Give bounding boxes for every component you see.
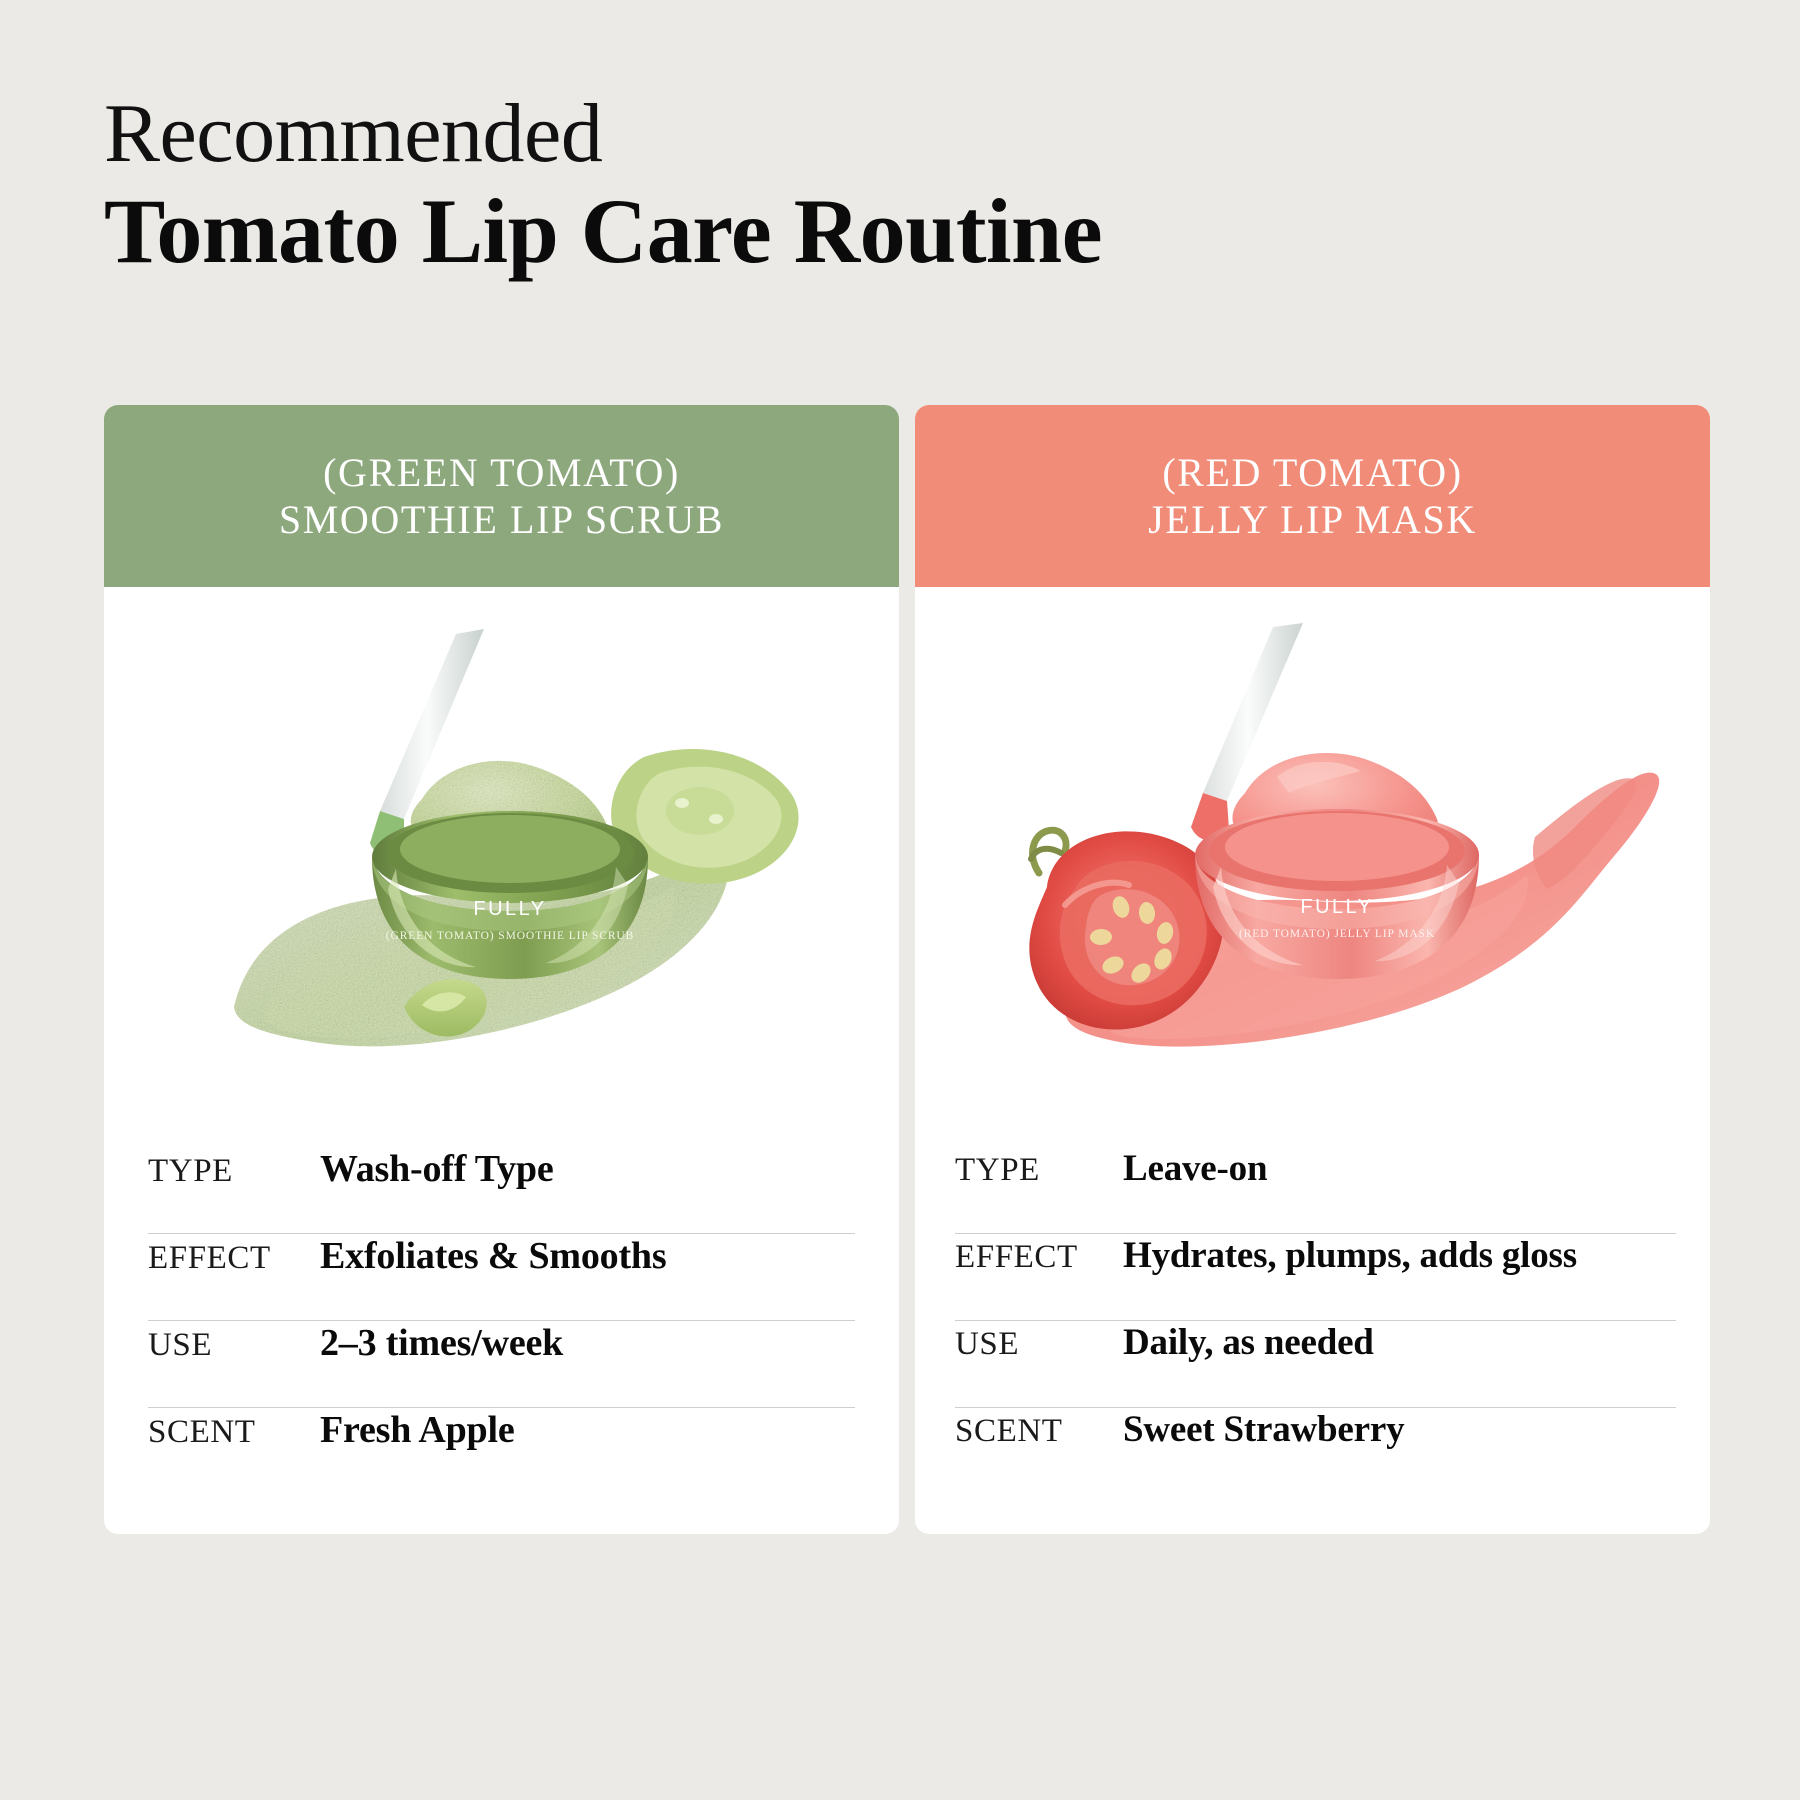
product-card-green-tomato[interactable]: (GREEN TOMATO) SMOOTHIE LIP SCRUB bbox=[104, 405, 899, 1534]
page-title: Recommended Tomato Lip Care Routine bbox=[104, 92, 1504, 281]
product-header-line-1: (RED TOMATO) bbox=[1162, 449, 1462, 496]
spec-value: Leave-on bbox=[1123, 1147, 1267, 1190]
jar-brand-label-green: FULLY bbox=[473, 898, 546, 920]
spec-row: EFFECT Exfoliates & Smooths bbox=[148, 1233, 855, 1320]
spec-value: Sweet Strawberry bbox=[1123, 1408, 1404, 1451]
product-image-green-tomato-scrub: FULLY (GREEN TOMATO) SMOOTHIE LIP SCRUB bbox=[104, 587, 899, 1147]
jar-brand-label-red: FULLY bbox=[1300, 896, 1373, 918]
page-title-line-1: Recommended bbox=[104, 92, 1504, 176]
spec-label: EFFECT bbox=[955, 1239, 1123, 1276]
spec-label: SCENT bbox=[955, 1413, 1123, 1450]
red-jelly-illustration: FULLY (RED TOMATO) JELLY LIP MASK bbox=[915, 587, 1710, 1147]
spec-row: TYPE Wash-off Type bbox=[148, 1147, 855, 1233]
product-card-header-green: (GREEN TOMATO) SMOOTHIE LIP SCRUB bbox=[104, 405, 899, 587]
spec-value: Daily, as needed bbox=[1123, 1321, 1374, 1364]
jar-subtitle-label-red: (RED TOMATO) JELLY LIP MASK bbox=[1239, 928, 1435, 940]
infographic-page: Recommended Tomato Lip Care Routine (GRE… bbox=[0, 0, 1800, 1800]
spec-label: SCENT bbox=[148, 1414, 320, 1451]
product-card-header-red: (RED TOMATO) JELLY LIP MASK bbox=[915, 405, 1710, 587]
product-comparison: (GREEN TOMATO) SMOOTHIE LIP SCRUB bbox=[104, 405, 1710, 1534]
spec-label: TYPE bbox=[148, 1153, 320, 1190]
spec-label: USE bbox=[955, 1326, 1123, 1363]
product-card-red-tomato[interactable]: (RED TOMATO) JELLY LIP MASK bbox=[915, 405, 1710, 1534]
spec-row: EFFECT Hydrates, plumps, adds gloss bbox=[955, 1233, 1676, 1320]
spec-row: USE 2–3 times/week bbox=[148, 1320, 855, 1407]
product-header-line-2: JELLY LIP MASK bbox=[1148, 496, 1477, 543]
spec-label: USE bbox=[148, 1327, 320, 1364]
spec-table-red: TYPE Leave-on EFFECT Hydrates, plumps, a… bbox=[915, 1147, 1710, 1534]
spec-row: SCENT Sweet Strawberry bbox=[955, 1407, 1676, 1494]
spec-value: 2–3 times/week bbox=[320, 1321, 563, 1365]
spec-row: TYPE Leave-on bbox=[955, 1147, 1676, 1233]
spec-value: Fresh Apple bbox=[320, 1408, 515, 1452]
spec-label: TYPE bbox=[955, 1152, 1123, 1189]
spec-row: USE Daily, as needed bbox=[955, 1320, 1676, 1407]
product-header-line-2: SMOOTHIE LIP SCRUB bbox=[279, 496, 724, 543]
product-header-line-1: (GREEN TOMATO) bbox=[323, 449, 680, 496]
spec-row: SCENT Fresh Apple bbox=[148, 1407, 855, 1494]
spec-value: Hydrates, plumps, adds gloss bbox=[1123, 1234, 1577, 1277]
green-scrub-illustration: FULLY (GREEN TOMATO) SMOOTHIE LIP SCRUB bbox=[104, 587, 899, 1147]
jar-subtitle-label-green: (GREEN TOMATO) SMOOTHIE LIP SCRUB bbox=[386, 930, 634, 942]
spec-value: Wash-off Type bbox=[320, 1147, 554, 1191]
spec-table-green: TYPE Wash-off Type EFFECT Exfoliates & S… bbox=[104, 1147, 899, 1534]
product-image-red-tomato-mask: FULLY (RED TOMATO) JELLY LIP MASK bbox=[915, 587, 1710, 1147]
page-title-line-2: Tomato Lip Care Routine bbox=[104, 182, 1504, 281]
spec-label: EFFECT bbox=[148, 1240, 320, 1277]
spec-value: Exfoliates & Smooths bbox=[320, 1234, 666, 1278]
